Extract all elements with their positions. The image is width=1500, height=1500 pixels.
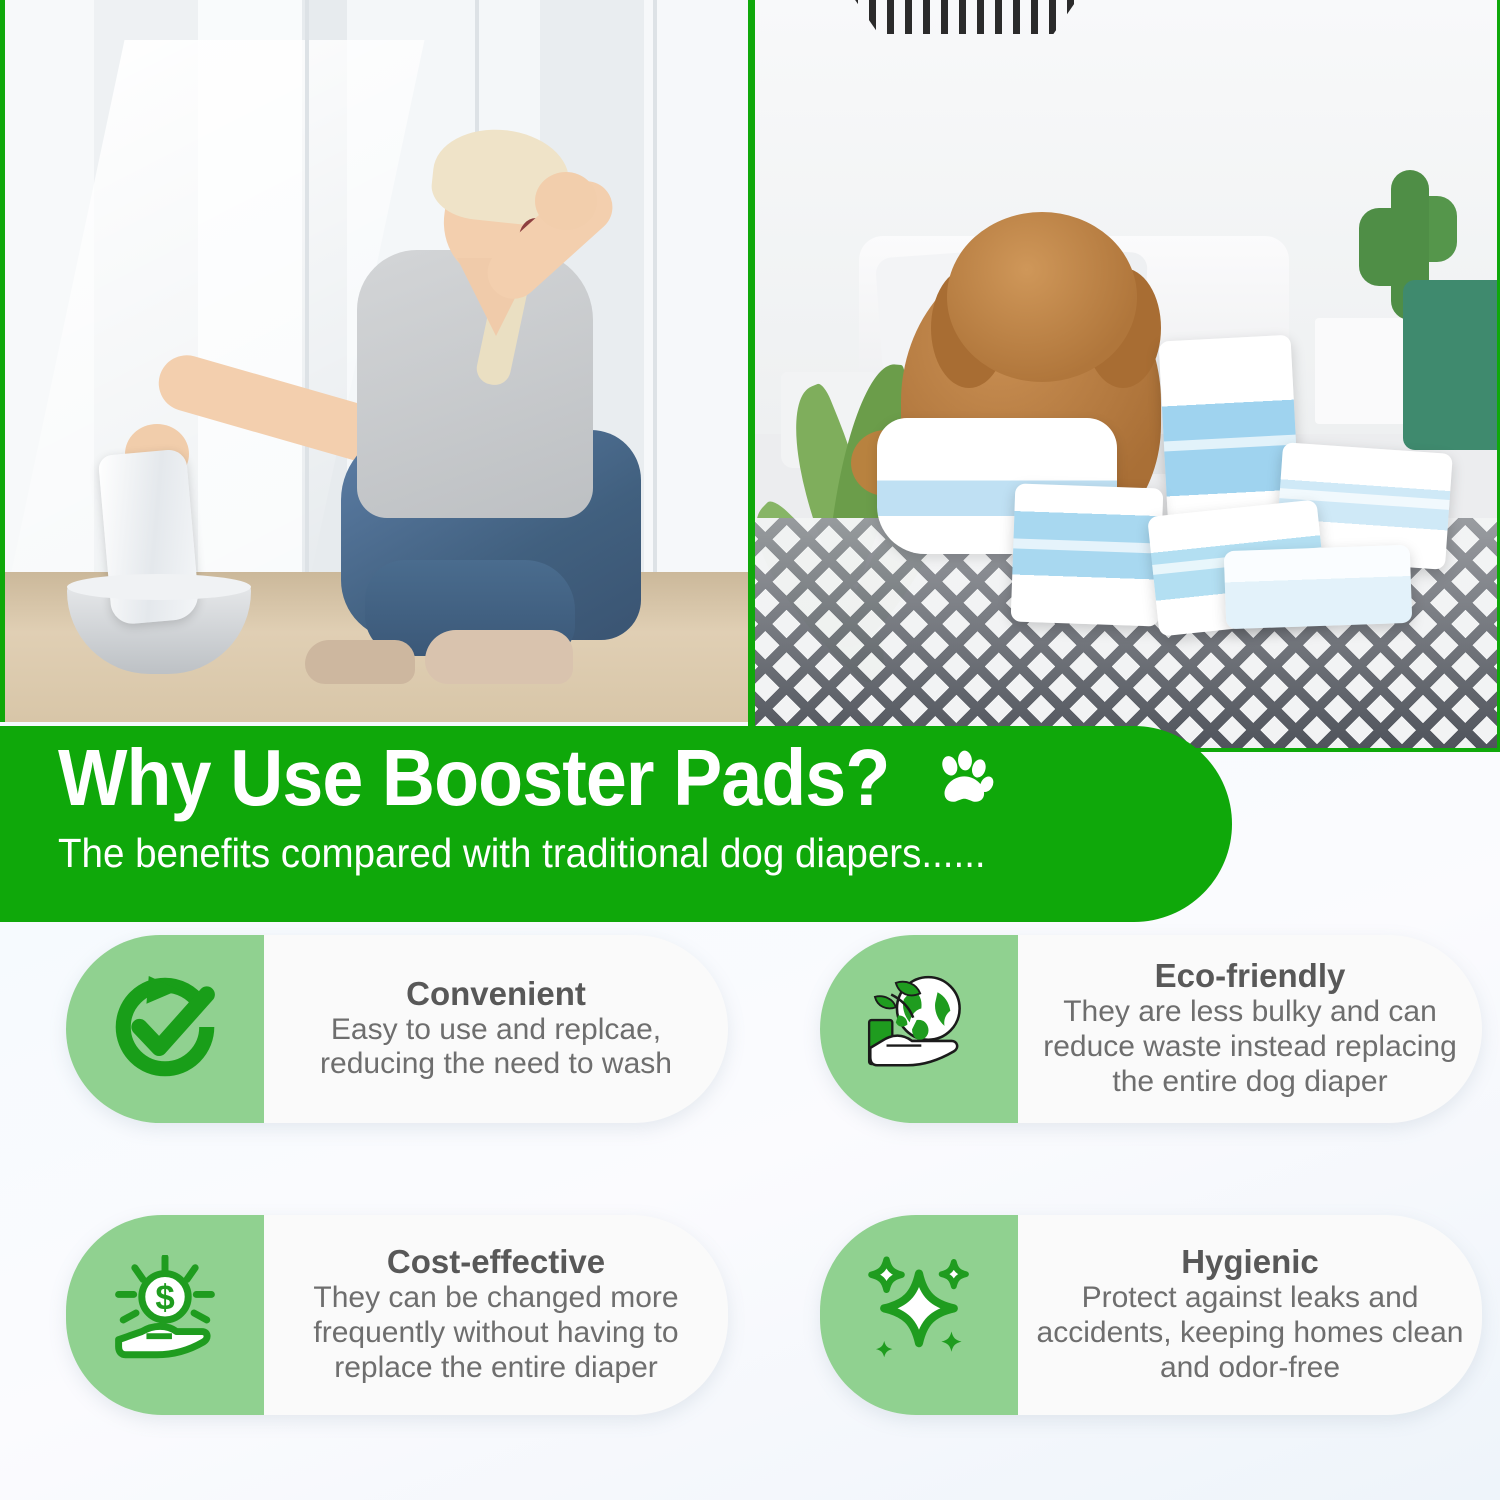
card-desc-line: accidents, keeping homes clean [1037,1316,1464,1351]
sparkle-shine-icon [861,1255,977,1376]
card-desc-line: Protect against leaks and [1082,1281,1419,1316]
card-desc-line: reducing the need to wash [320,1047,672,1082]
poodle-head [947,212,1137,382]
left-door-edge-3 [653,0,657,612]
icon-pane [820,935,1018,1123]
card-desc-line: Easy to use and replcae, [331,1013,661,1048]
booster-pad-pack [1224,545,1413,629]
cactus-arm-left [1359,208,1393,286]
pack-band [1164,435,1296,452]
svg-text:$: $ [155,1278,174,1317]
icon-pane [820,1215,1018,1415]
card-title: Convenient [406,976,586,1013]
booster-pad-pack [1011,483,1164,626]
wall-art [851,0,1081,34]
benefit-card-convenient[interactable]: Convenient Easy to use and replcae, redu… [66,935,728,1123]
card-desc-line: They are less bulky and can [1063,995,1437,1030]
card-body: Cost-effective They can be changed more … [264,1215,728,1415]
page-subtitle: The benefits compared with traditional d… [58,830,1124,877]
left-door-edge [305,0,309,612]
card-desc-line: reduce waste instead replacing [1043,1030,1457,1065]
card-title: Cost-effective [387,1244,605,1281]
benefit-card-cost-effective[interactable]: $ Cost-effective They can be changed mor… [66,1215,728,1415]
benefit-card-hygienic[interactable]: Hygienic Protect against leaks and accid… [820,1215,1482,1415]
card-desc-line: frequently without having to [313,1316,678,1351]
pack-band [1013,539,1161,554]
hand-holding-globe-leaf-icon [861,969,977,1090]
photo-woman-odor [0,0,748,722]
woman-shoe-back [305,640,415,684]
card-desc-line: They can be changed more [313,1281,678,1316]
woman-hand-pinching-nose [535,172,597,230]
page-title: Why Use Booster Pads? [58,738,889,818]
card-desc-line: and odor-free [1160,1351,1340,1386]
green-chair [1403,280,1500,450]
card-title: Eco-friendly [1155,958,1346,995]
card-body: Convenient Easy to use and replcae, redu… [264,935,728,1123]
bowl-rim [67,574,251,600]
icon-pane [66,935,264,1123]
icon-pane: $ [66,1215,264,1415]
card-body: Eco-friendly They are less bulky and can… [1018,935,1482,1123]
photo-dog-with-pads [748,0,1500,752]
photo-strip [0,0,1500,760]
benefit-cards: Convenient Easy to use and replcae, redu… [0,930,1500,1490]
card-body: Hygienic Protect against leaks and accid… [1018,1215,1482,1415]
card-desc-line: replace the entire diaper [334,1351,658,1386]
card-desc-line: the entire dog diaper [1112,1065,1387,1100]
card-title: Hygienic [1181,1244,1319,1281]
headline-banner: Why Use Booster Pads? The benefits compa… [0,726,1232,922]
paw-print-icon [930,746,996,810]
benefit-card-eco-friendly[interactable]: Eco-friendly They are less bulky and can… [820,935,1482,1123]
woman-shoe-front [425,630,573,684]
cactus-arm-right [1425,196,1457,262]
hand-holding-dollar-coin-icon: $ [107,1255,223,1376]
headline-row: Why Use Booster Pads? [58,738,1192,818]
refresh-checkmark-icon [107,969,223,1090]
